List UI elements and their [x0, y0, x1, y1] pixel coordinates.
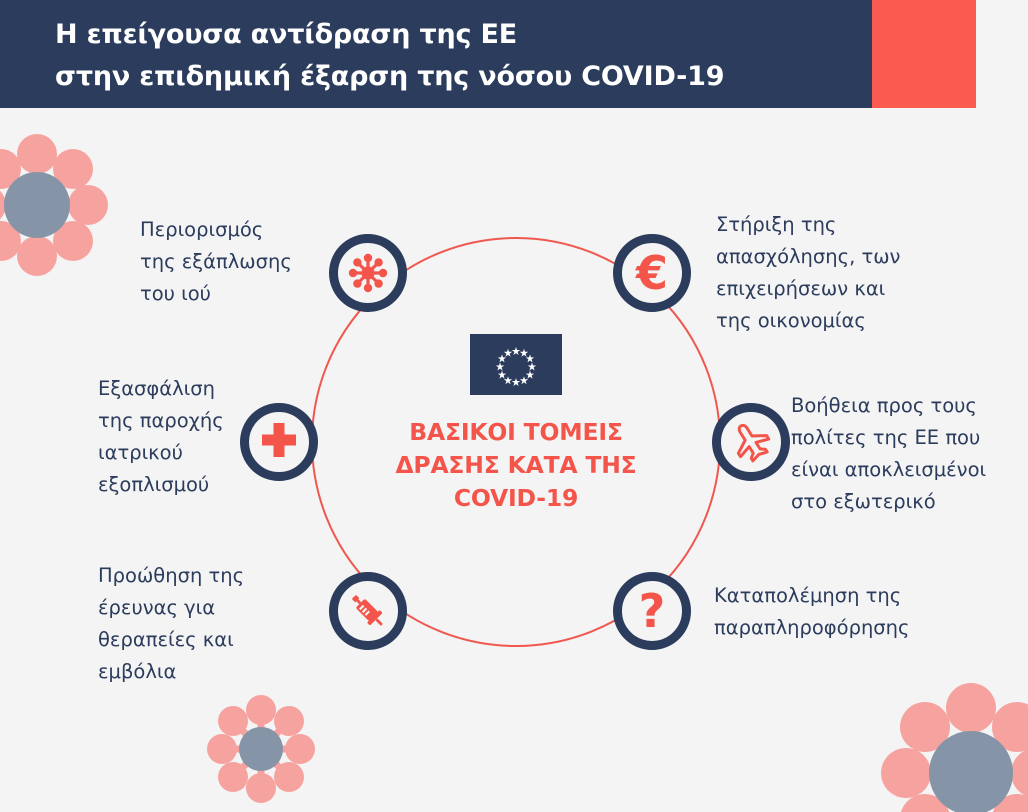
infographic-canvas: Η επείγουσα αντίδραση της ΕΕ στην επιδημ…: [0, 0, 1028, 812]
node-stranded-citizens[interactable]: [712, 403, 790, 481]
label-contain-spread: Περιορισμός της εξάπλωσης του ιού: [140, 214, 360, 310]
label-medical-equipment: Εξασφάλιση της παροχής ιατρικού εξοπλισμ…: [98, 373, 278, 501]
label-fight-disinformation: Καταπολέμηση της παραπληροφόρησης: [714, 580, 964, 644]
virus-decoration-icon-top-left: [0, 118, 122, 293]
page-title: Η επείγουσα αντίδραση της ΕΕ στην επιδημ…: [55, 14, 855, 98]
label-stranded-citizens: Βοήθεια προς τους πολίτες της ΕΕ που είν…: [791, 390, 1028, 518]
syringe-icon: [346, 589, 390, 633]
european-union-flag: [470, 334, 562, 395]
label-research-vaccines: Προώθηση της έρευνας για θεραπείες και ε…: [98, 560, 293, 688]
virus-decoration-icon-bottom-left: [196, 684, 326, 812]
node-fight-disinformation[interactable]: ?: [613, 572, 691, 650]
virus-decoration-icon-bottom-right: [856, 658, 1028, 812]
node-research-vaccines[interactable]: [329, 572, 407, 650]
question-mark-icon: ?: [639, 588, 666, 634]
airplane-icon: [729, 420, 773, 464]
node-support-economy[interactable]: €: [613, 234, 691, 312]
header-accent-block: [872, 0, 976, 108]
center-title: ΒΑΣΙΚΟΙ ΤΟΜΕΙΣ ΔΡΑΣΗΣ ΚΑΤΑ ΤΗΣ COVID-19: [346, 416, 686, 515]
euro-icon: €: [636, 250, 668, 296]
label-support-economy: Στήριξη της απασχόλησης, των επιχειρήσεω…: [716, 209, 976, 337]
